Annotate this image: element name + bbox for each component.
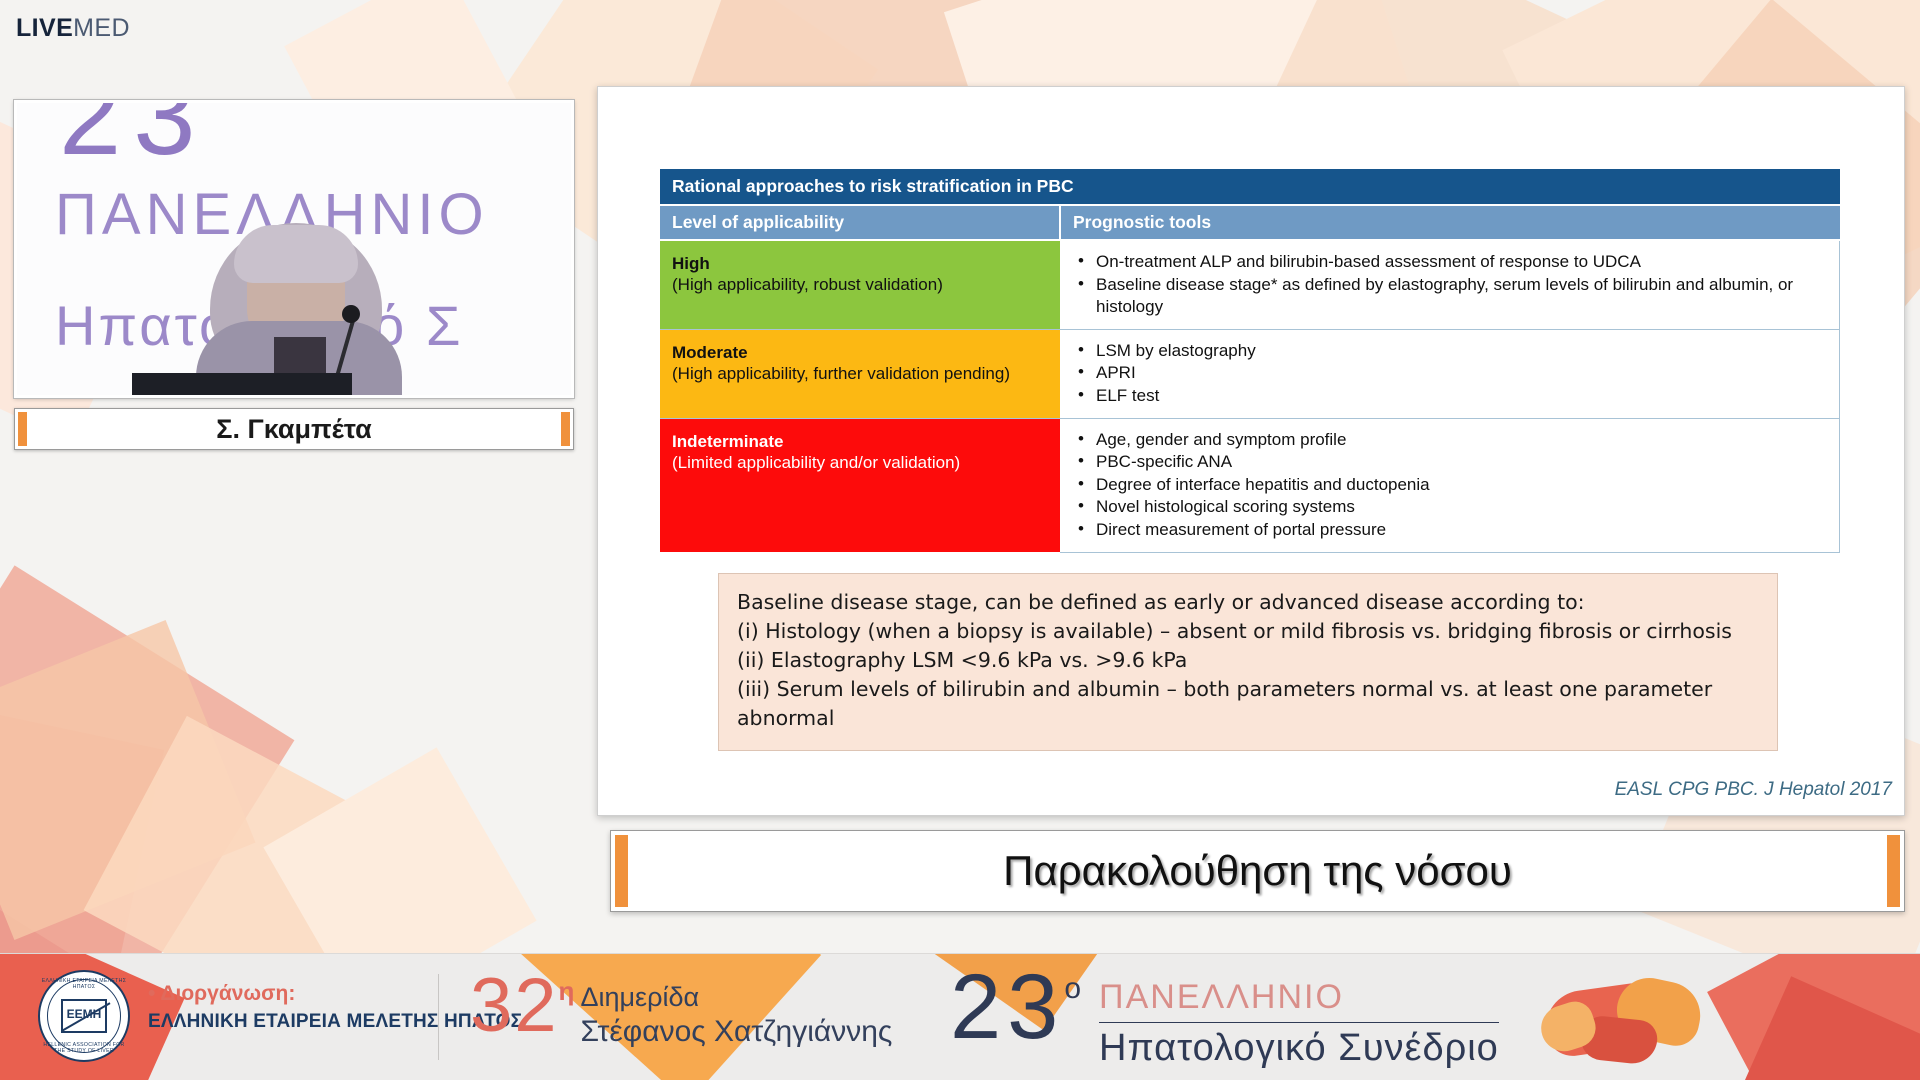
event-23-block: 23 ο ΠΑΝΕΛΛΗΝΙΟ Ηπατολογικό Συνέδριο [950,964,1499,1070]
tools-cell-high: On-treatment ALP and bilirubin-based ass… [1060,240,1840,329]
column-header-level: Level of applicability [660,205,1060,240]
level-note: (Limited applicability and/or validation… [672,453,960,472]
event-23-superscript: ο [1064,972,1081,1006]
column-header-tools: Prognostic tools [1060,205,1840,240]
list-item: LSM by elastography [1074,340,1825,363]
baseline-disease-stage-callout: Baseline disease stage, can be defined a… [718,573,1778,751]
callout-line: (ii) Elastography LSM <9.6 kPa vs. >9.6 … [737,646,1759,675]
level-name: Moderate [672,342,1048,363]
tools-cell-moderate: LSM by elastography APRI ELF test [1060,329,1840,418]
slide-citation: EASL CPG PBC. J Hepatol 2017 [1615,779,1892,801]
callout-line: (iii) Serum levels of bilirubin and albu… [737,675,1759,733]
liver-logo-icon [1535,970,1715,1066]
level-name: Indeterminate [672,431,1048,452]
tools-cell-indeterminate: Age, gender and symptom profile PBC-spec… [1060,418,1840,552]
livemed-logo[interactable]: LIVEMED [16,14,130,43]
event-32-superscript: η [559,976,575,1007]
list-item: ELF test [1074,385,1825,408]
slide-panel[interactable]: Rational approaches to risk stratificati… [597,86,1905,816]
page-title: Παρακολούθηση της νόσου [1003,847,1512,895]
level-cell-indeterminate: Indeterminate (Limited applicability and… [660,418,1060,552]
video-frame[interactable]: 23 ΠΑΝΕΛΛΗΝΙΟ Ηπατολογικό Σ [14,100,574,398]
microphone-head-icon [342,305,360,323]
seal-ring-bottom-text: HELLENIC ASSOCIATION FOR THE STUDY OF LI… [40,1042,128,1054]
table-title: Rational approaches to risk stratificati… [660,169,1840,205]
conference-footer: ΕΛΛΗΝΙΚΗ ΕΤΑΙΡΕΙΑ ΜΕΛΕΤΗΣ ΗΠΑΤΟΣ HELLENI… [0,953,1920,1080]
logo-text-med: MED [73,14,130,42]
level-note: (High applicability, robust validation) [672,275,943,294]
backdrop-number: 23 [59,100,208,180]
list-item: Direct measurement of portal pressure [1074,519,1825,542]
list-item: Baseline disease stage* as defined by el… [1074,274,1825,319]
event-32-line1: Διημερίδα [580,982,892,1013]
level-cell-high: High (High applicability, robust validat… [660,240,1060,329]
event-23-line2: Ηπατολογικό Συνέδριο [1099,1027,1499,1070]
level-name: High [672,253,1048,274]
callout-line: Baseline disease stage, can be defined a… [737,588,1759,617]
speaker-video-panel[interactable]: 23 ΠΑΝΕΛΛΗΝΙΟ Ηπατολογικό Σ Σ. Γκαμπέτα [14,100,574,450]
slide-title-bar: Παρακολούθηση της νόσου [610,830,1905,912]
table-row: Moderate (High applicability, further va… [660,329,1840,418]
eemh-seal-logo: ΕΛΛΗΝΙΚΗ ΕΤΑΙΡΕΙΑ ΜΕΛΕΤΗΣ ΗΠΑΤΟΣ HELLENI… [38,970,130,1062]
speaker-name-label: Σ. Γκαμπέτα [216,414,371,445]
footer-divider [438,974,439,1060]
laptop-shape [132,373,352,395]
callout-line: (i) Histology (when a biopsy is availabl… [737,617,1759,646]
seal-acronym: EEMH [63,1007,105,1021]
list-item: APRI [1074,362,1825,385]
event-32-line2: Στέφανος Χατζηγιάννης [580,1015,892,1049]
list-item: On-treatment ALP and bilirubin-based ass… [1074,251,1825,274]
seal-emblem: EEMH [61,999,107,1033]
speaker-figure [202,205,392,395]
list-item: Age, gender and symptom profile [1074,429,1825,452]
logo-text-live: LIVE [16,14,73,42]
event-23-number: 23 [950,964,1064,1051]
level-note: (High applicability, further validation … [672,364,1010,383]
video-backdrop: 23 ΠΑΝΕΛΛΗΝΙΟ Ηπατολογικό Σ [17,103,571,395]
organizer-block: • Διοργάνωση: ΕΛΛΗΝΙΚΗ ΕΤΑΙΡΕΙΑ ΜΕΛΕΤΗΣ … [148,982,522,1033]
speaker-name-plate: Σ. Γκαμπέτα [14,408,574,450]
list-item: Degree of interface hepatitis and ductop… [1074,474,1825,497]
organizer-label: • Διοργάνωση: [148,982,522,1006]
risk-stratification-table: Rational approaches to risk stratificati… [660,169,1840,553]
event-23-line1: ΠΑΝΕΛΛΗΝΙΟ [1099,978,1499,1017]
table-row: Indeterminate (Limited applicability and… [660,418,1840,552]
level-cell-moderate: Moderate (High applicability, further va… [660,329,1060,418]
event-32-block: 32 η Διημερίδα Στέφανος Χατζηγιάννης [470,970,892,1049]
organizer-name: ΕΛΛΗΝΙΚΗ ΕΤΑΙΡΕΙΑ ΜΕΛΕΤΗΣ ΗΠΑΤΟΣ [148,1011,522,1033]
list-item: Novel histological scoring systems [1074,496,1825,519]
event-32-number: 32 [470,970,559,1042]
seal-ring-top-text: ΕΛΛΗΝΙΚΗ ΕΤΑΙΡΕΙΑ ΜΕΛΕΤΗΣ ΗΠΑΤΟΣ [40,978,128,990]
list-item: PBC-specific ANA [1074,451,1825,474]
event-23-rule [1099,1022,1499,1023]
table-header-row: Level of applicability Prognostic tools [660,205,1840,240]
table-title-row: Rational approaches to risk stratificati… [660,169,1840,205]
speaker-fringe [234,225,358,283]
table-row: High (High applicability, robust validat… [660,240,1840,329]
